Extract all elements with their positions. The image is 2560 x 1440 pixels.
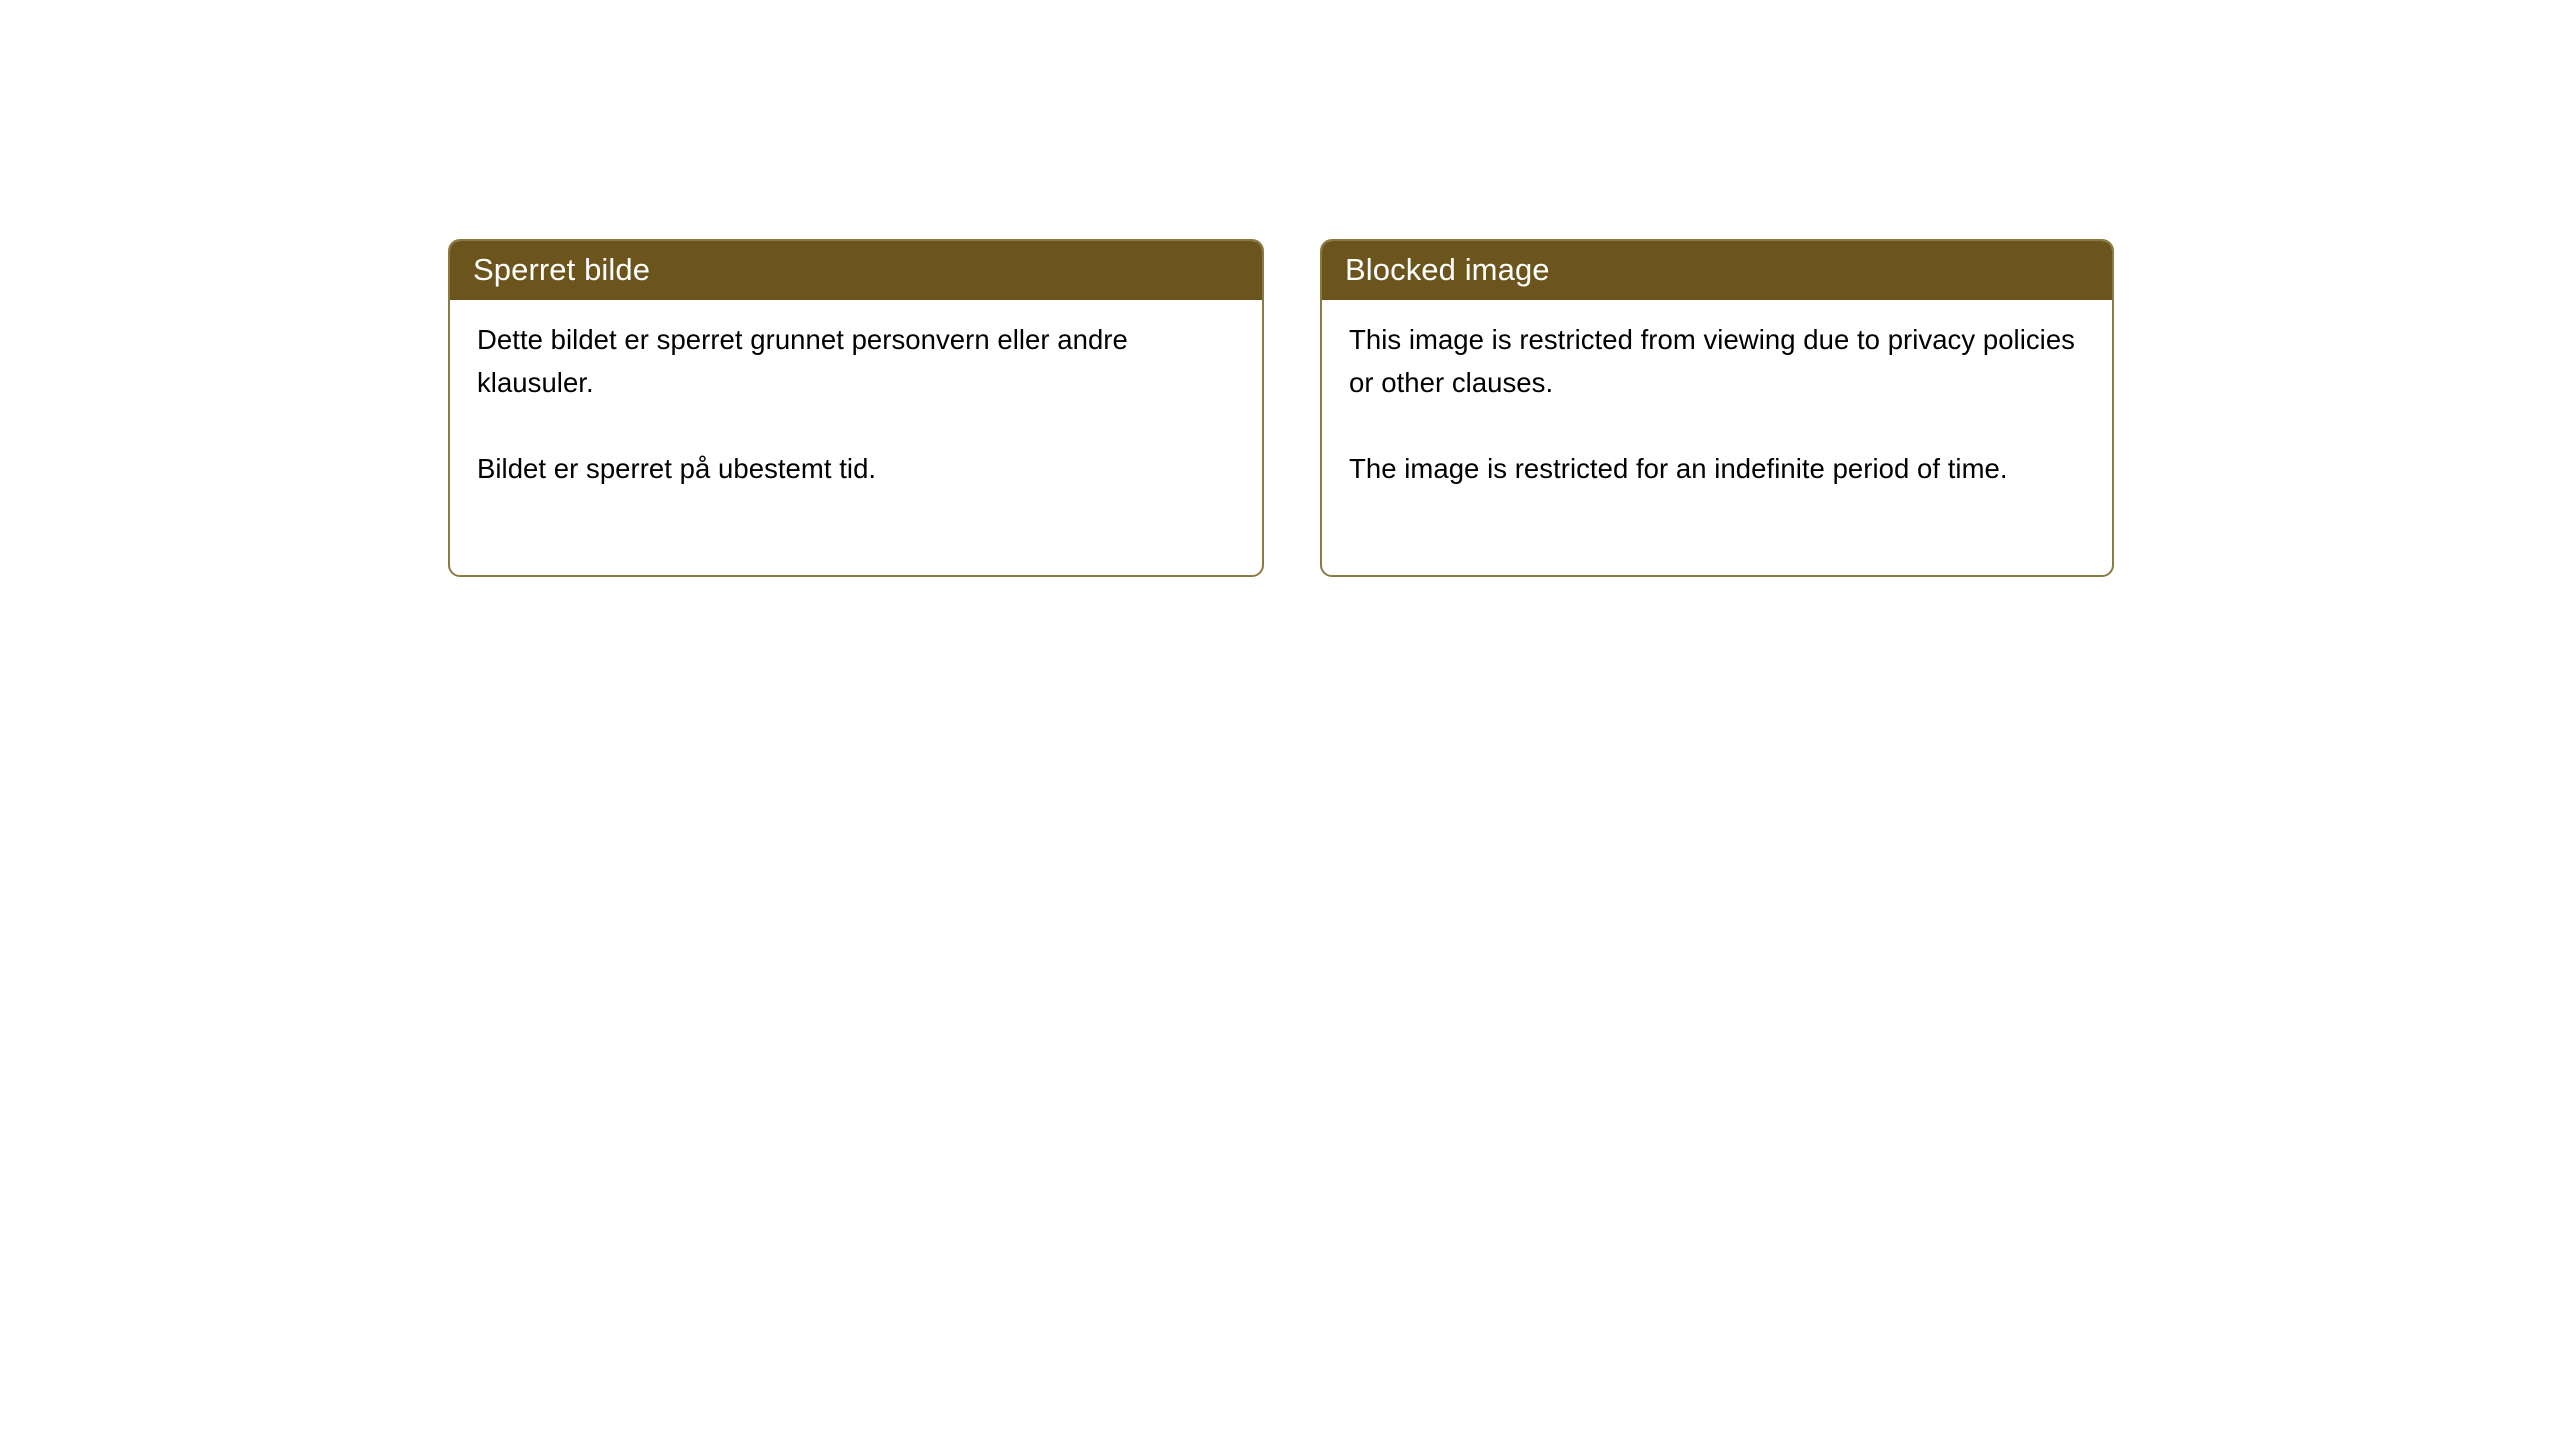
- card-title-norwegian: Sperret bilde: [473, 253, 650, 287]
- card-title-english: Blocked image: [1345, 253, 1550, 287]
- card-paragraph-secondary-english: The image is restricted for an indefinit…: [1349, 447, 2090, 490]
- card-paragraph-secondary-norwegian: Bildet er sperret på ubestemt tid.: [477, 447, 1240, 490]
- card-body-norwegian: Dette bildet er sperret grunnet personve…: [450, 300, 1262, 575]
- card-header-norwegian: Sperret bilde: [448, 239, 1264, 300]
- card-header-english: Blocked image: [1320, 239, 2114, 300]
- card-paragraph-primary-english: This image is restricted from viewing du…: [1349, 318, 2090, 404]
- card-paragraph-primary-norwegian: Dette bildet er sperret grunnet personve…: [477, 318, 1240, 404]
- card-body-english: This image is restricted from viewing du…: [1322, 300, 2112, 575]
- page-canvas: Sperret bilde Dette bildet er sperret gr…: [0, 0, 2560, 1440]
- blocked-image-card-english: Blocked image This image is restricted f…: [1320, 239, 2114, 577]
- blocked-image-card-norwegian: Sperret bilde Dette bildet er sperret gr…: [448, 239, 1264, 577]
